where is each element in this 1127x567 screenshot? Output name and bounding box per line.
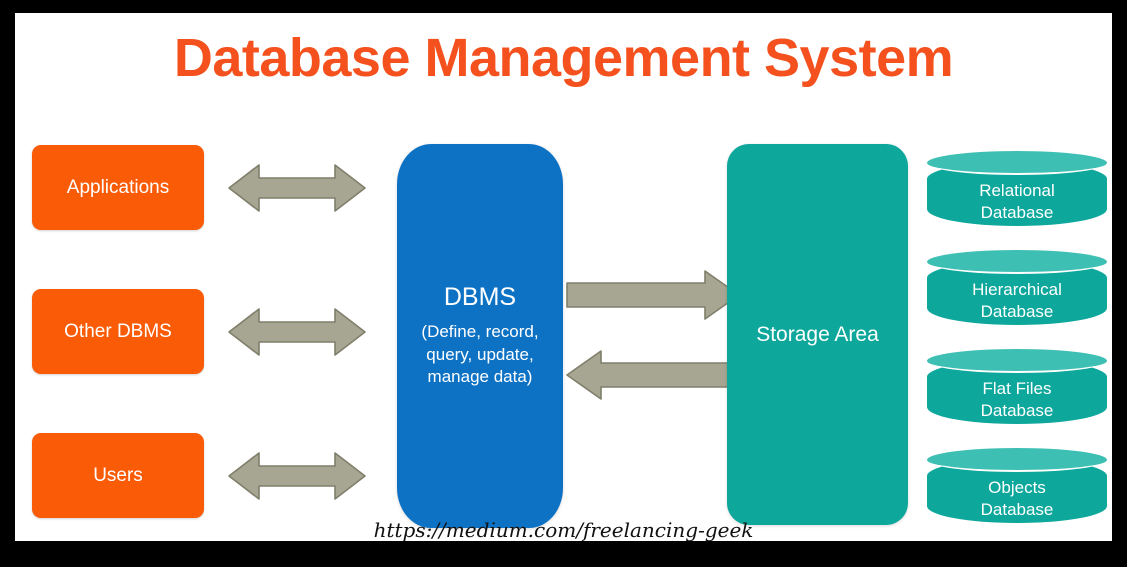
- database-cylinder-objects-label: Objects Database: [927, 468, 1107, 530]
- diagram-inner-frame: Database Management System Applications …: [15, 13, 1112, 541]
- left-arrow-icon-storage-to-dbms: [565, 349, 741, 401]
- node-storage-area-label: Storage Area: [756, 323, 879, 347]
- page-title: Database Management System: [15, 31, 1112, 85]
- database-cylinder-flat-files-label: Flat Files Database: [927, 369, 1107, 431]
- node-dbms-subtitle: (Define, record, query, update, manage d…: [397, 321, 563, 388]
- node-other-dbms-label: Other DBMS: [64, 321, 172, 343]
- cylinder-label-line2: Database: [981, 400, 1054, 422]
- node-users-label: Users: [93, 465, 143, 487]
- node-storage-area[interactable]: Storage Area: [727, 144, 908, 525]
- double-arrow-icon-other-dbms: [227, 303, 367, 361]
- cylinder-label-line1: Hierarchical: [972, 279, 1062, 301]
- node-applications-label: Applications: [67, 177, 169, 199]
- right-arrow-icon-dbms-to-storage: [565, 269, 741, 321]
- double-arrow-icon-applications: [227, 159, 367, 217]
- database-cylinder-hierarchical-label: Hierarchical Database: [927, 270, 1107, 332]
- cylinder-label-line1: Relational: [979, 180, 1055, 202]
- database-cylinder-flat-files[interactable]: Flat Files Database: [927, 349, 1107, 434]
- diagram-canvas: Database Management System Applications …: [0, 0, 1127, 567]
- node-other-dbms[interactable]: Other DBMS: [32, 289, 204, 374]
- database-cylinder-relational-label: Relational Database: [927, 171, 1107, 233]
- cylinder-label-line2: Database: [981, 499, 1054, 521]
- node-applications[interactable]: Applications: [32, 145, 204, 230]
- cylinder-label-line1: Flat Files: [983, 378, 1052, 400]
- cylinder-label-line2: Database: [981, 301, 1054, 323]
- cylinder-label-line2: Database: [981, 202, 1054, 224]
- database-cylinder-hierarchical[interactable]: Hierarchical Database: [927, 250, 1107, 335]
- cylinder-label-line1: Objects: [988, 477, 1046, 499]
- double-arrow-icon-users: [227, 447, 367, 505]
- node-dbms[interactable]: DBMS (Define, record, query, update, man…: [397, 144, 563, 528]
- database-cylinder-objects[interactable]: Objects Database: [927, 448, 1107, 533]
- node-users[interactable]: Users: [32, 433, 204, 518]
- database-cylinder-relational[interactable]: Relational Database: [927, 151, 1107, 236]
- node-dbms-title: DBMS: [444, 284, 516, 312]
